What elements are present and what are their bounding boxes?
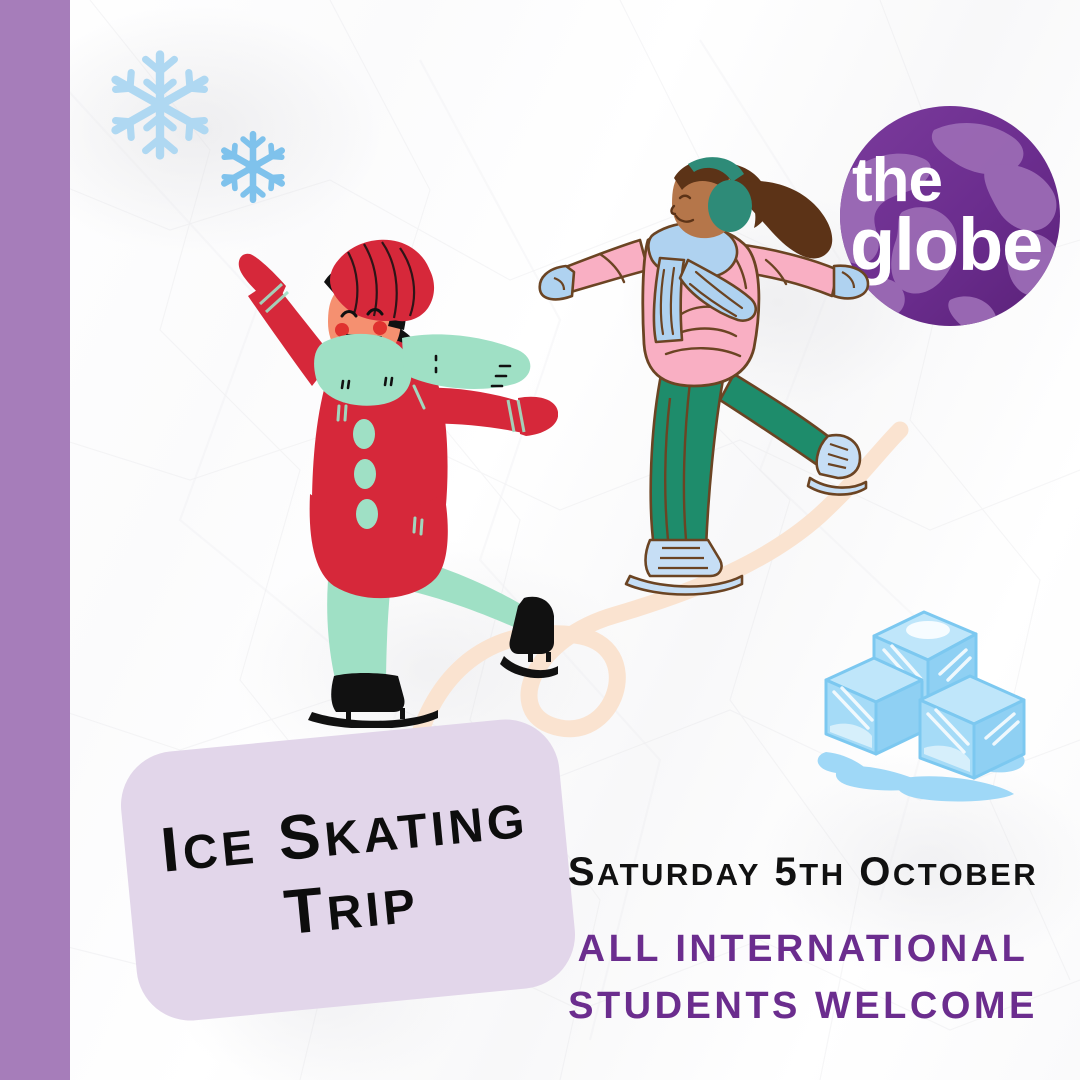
snowflake-icon — [100, 45, 220, 165]
title-card-text: ICE SKATING TRIP — [116, 715, 580, 1026]
event-date: SATURDAY 5TH OCTOBER — [548, 850, 1058, 895]
poster-canvas: the globe — [0, 0, 1080, 1080]
event-details: SATURDAY 5TH OCTOBER All International S… — [548, 850, 1058, 1035]
skater-in-red-coat — [238, 238, 558, 728]
welcome-line-1: All International — [548, 921, 1058, 978]
title-line-2: TRIP — [281, 864, 422, 951]
skater-in-pink-jacket — [538, 148, 888, 608]
welcome-message: All International Students Welcome — [548, 921, 1058, 1035]
ice-cubes-icon — [812, 602, 1038, 802]
left-accent-band — [0, 0, 70, 1080]
welcome-line-2: Students Welcome — [548, 978, 1058, 1035]
snowflake-icon — [212, 126, 294, 208]
